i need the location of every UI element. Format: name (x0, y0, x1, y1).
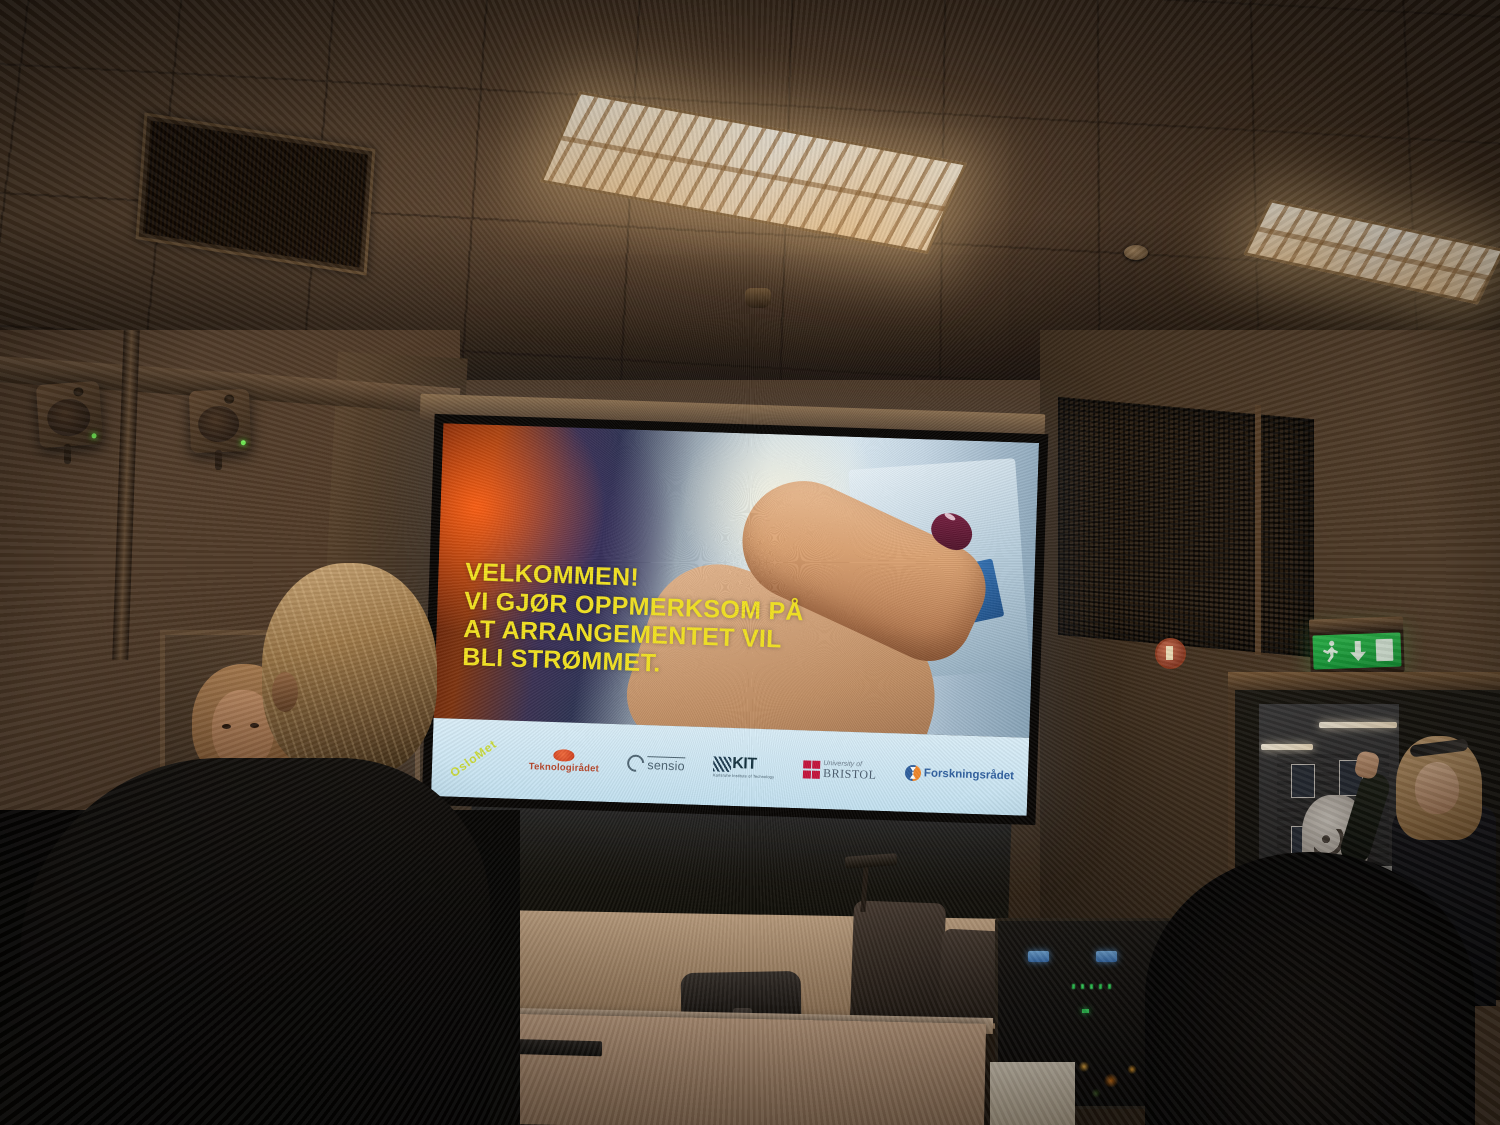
gift-box (990, 1062, 1075, 1125)
forskningsradet-logo-label: Forskningsrådet (924, 767, 1014, 782)
rack-status-leds (1072, 984, 1112, 989)
exit-door-icon (1375, 639, 1393, 662)
bristol-logo: University of BRISTOL (802, 760, 876, 781)
speaker-cone (46, 398, 91, 437)
sensio-logo: sensio (627, 755, 685, 774)
exterior-strip-light (1261, 744, 1313, 750)
oslomet-logo: OsloMet (442, 750, 501, 766)
speaker-power-led (240, 441, 245, 446)
speaker-mount-right (215, 450, 222, 470)
running-person-icon (1321, 640, 1342, 665)
eye (250, 723, 259, 728)
teknologiradet-logo: Teknologirådet (529, 748, 600, 774)
building-window (1291, 764, 1315, 798)
forskningsradet-hourglass-icon (905, 765, 922, 782)
bristol-logo-label-main: BRISTOL (823, 767, 877, 781)
kit-fan-icon (713, 756, 731, 772)
fire-alarm-sign-icon (1155, 638, 1186, 669)
eye (222, 724, 231, 729)
speaker-cone (198, 405, 240, 442)
projected-slide: VELKOMMEN! VI GJØR OPPMERKSOM PÅ AT ARRA… (431, 423, 1039, 816)
wall-speaker-left (36, 381, 103, 448)
wall-speaker-right (189, 389, 251, 453)
emergency-exit-sign (1309, 626, 1405, 675)
bristol-crest-icon (802, 760, 820, 778)
rack-status-led (1082, 1009, 1089, 1013)
speaker-mount-left (64, 444, 71, 464)
perforated-acoustic-panel (1058, 397, 1314, 657)
rack-display-right (1096, 951, 1117, 962)
kit-logo-sublabel: Karlsruhe Institute of Technology (713, 773, 774, 780)
oslomet-logo-label: OsloMet (447, 737, 499, 780)
smoke-detector-icon (1124, 245, 1148, 260)
hair-texture (262, 563, 437, 778)
man-foreground-body (20, 758, 490, 1125)
speaker-tweeter (224, 394, 235, 404)
projection-screen: VELKOMMEN! VI GJØR OPPMERKSOM PÅ AT ARRA… (422, 414, 1049, 825)
speaker-tweeter (73, 387, 84, 397)
exit-sign-hood (1309, 616, 1403, 632)
kit-logo: KIT Karlsruhe Institute of Technology (713, 755, 775, 780)
vent-mesh (143, 120, 368, 267)
teknologiradet-logo-label: Teknologirådet (529, 761, 600, 774)
woman-doorway-face (1415, 762, 1459, 814)
man-foreground-head (262, 563, 437, 778)
rack-display-left (1028, 951, 1049, 962)
man-foreground-ear (272, 672, 298, 712)
slide-headline: VELKOMMEN! VI GJØR OPPMERKSOM PÅ AT ARRA… (462, 558, 918, 686)
down-arrow-icon (1349, 640, 1368, 663)
head-bottom-right (1145, 852, 1475, 1125)
teknologiradet-mark-icon (554, 749, 575, 762)
sensio-logo-label: sensio (647, 756, 685, 773)
sensio-swirl-icon (624, 752, 648, 776)
acoustic-panel-divider (1255, 405, 1261, 656)
forskningsradet-logo: Forskningsrådet (905, 765, 1015, 785)
conference-room-photo: VELKOMMEN! VI GJØR OPPMERKSOM PÅ AT ARRA… (0, 0, 1500, 1125)
exterior-strip-light (1319, 722, 1397, 728)
panel-chair-1[interactable] (850, 900, 946, 1023)
ceiling-camera-icon (745, 288, 771, 308)
kit-logo-label: KIT (732, 755, 757, 774)
speaker-power-led (92, 433, 97, 438)
exit-sign-face (1312, 632, 1401, 669)
